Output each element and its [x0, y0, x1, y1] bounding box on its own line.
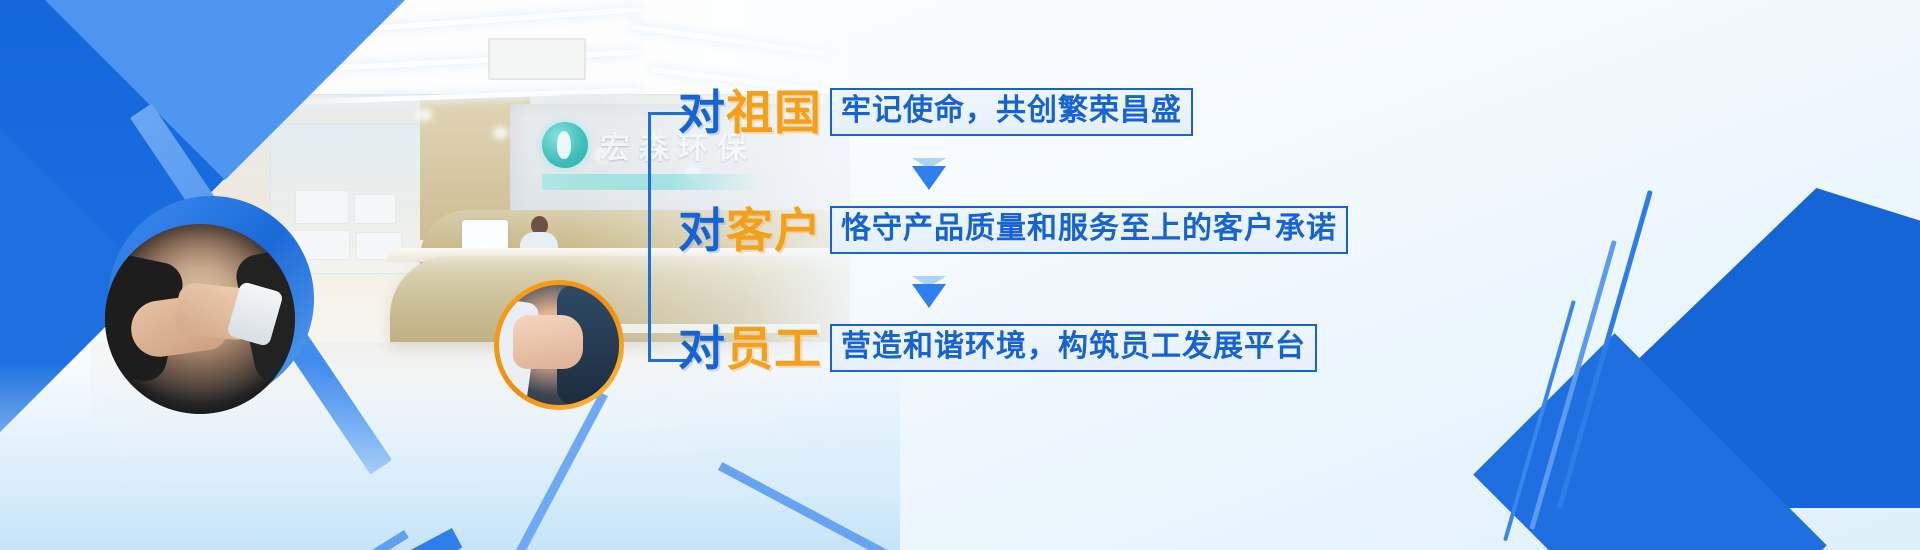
ceiling-vent [488, 38, 586, 80]
value-row-employee: 对员工 营造和谐环境，构筑员工发展平台 [678, 324, 1317, 372]
value-keyword: 员工 [726, 322, 822, 375]
value-keyword: 客户 [726, 204, 822, 257]
shelf-box [354, 194, 396, 224]
value-tag-employee: 营造和谐环境，构筑员工发展平台 [830, 324, 1317, 372]
value-tag-country: 牢记使命，共创繁荣昌盛 [830, 88, 1193, 136]
team-applause-photo: 鼓掌 [499, 285, 619, 405]
down-arrow-icon [912, 166, 946, 190]
value-keyword: 祖国 [726, 86, 822, 139]
value-prefix: 对 [678, 86, 726, 139]
value-prefix: 对 [678, 322, 726, 375]
shelf-box [295, 190, 349, 224]
values-banner: 宏森环保 握手 鼓掌 [0, 0, 1920, 550]
value-row-customer: 对客户 恪守产品质量和服务至上的客户承诺 [678, 206, 1348, 254]
downlight [420, 112, 429, 118]
value-tag-customer: 恪守产品质量和服务至上的客户承诺 [830, 206, 1348, 254]
value-prefix: 对 [678, 204, 726, 257]
value-row-country: 对祖国 牢记使命，共创繁荣昌盛 [678, 88, 1193, 136]
values-content: 对祖国 牢记使命，共创繁荣昌盛 对客户 恪守产品质量和服务至上的客户承诺 对员工… [648, 86, 1748, 386]
value-lead-customer: 对客户 [678, 207, 822, 254]
down-arrow-icon [912, 284, 946, 308]
value-lead-country: 对祖国 [678, 89, 822, 136]
globe-logo-icon [542, 122, 588, 168]
value-lead-employee: 对员工 [678, 325, 822, 372]
downlight [496, 130, 505, 136]
handshake-photo: 握手 [105, 224, 295, 414]
